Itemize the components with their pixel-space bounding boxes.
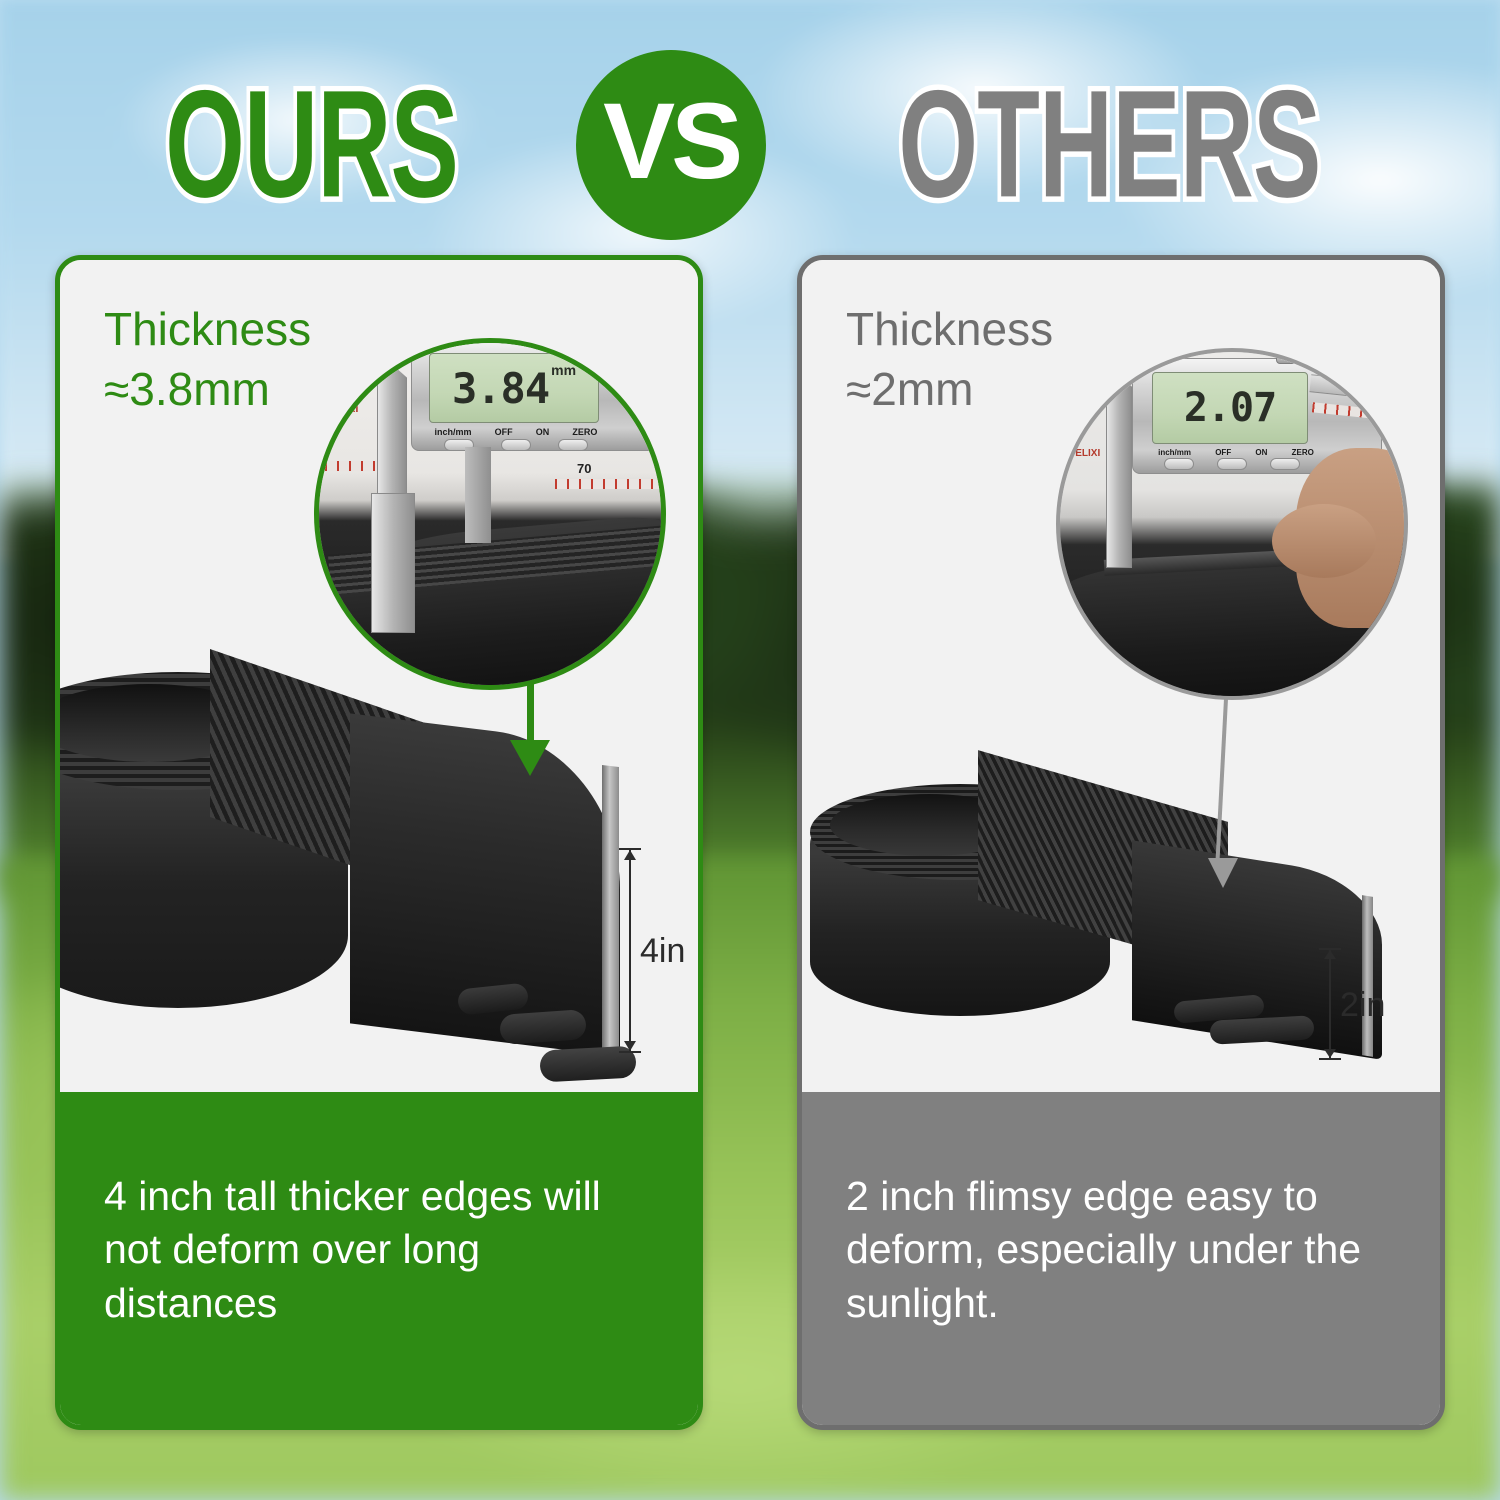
anchor-stake-2 bbox=[499, 1009, 587, 1045]
caliper-button-3-others bbox=[1270, 458, 1300, 470]
caliper-btn-label-inchmm-ours: inch/mm bbox=[435, 427, 472, 437]
caliper-btn-label-inchmm-others: inch/mm bbox=[1158, 448, 1191, 457]
thumb bbox=[1272, 504, 1376, 578]
comparison-panel-ours: Thickness ≈3.8mm 70 3.84 bbox=[55, 255, 703, 1430]
caliper-button-1-others bbox=[1164, 458, 1194, 470]
caliper-scale-70-label: 70 bbox=[577, 461, 591, 476]
header-ours-title: OURS bbox=[165, 68, 458, 221]
caliper-btn-label-on-ours: ON bbox=[536, 427, 550, 437]
caliper-lcd-others: 2.07 bbox=[1152, 372, 1308, 444]
caliper-button-2-ours bbox=[501, 439, 531, 451]
comparison-panel-others: Thickness ≈2mm 2.07 inch/mm OFF ON bbox=[797, 255, 1445, 1430]
thickness-label-others: Thickness ≈2mm bbox=[846, 300, 1053, 420]
caption-text-others: 2 inch flimsy edge easy to deform, espec… bbox=[846, 1170, 1396, 1330]
thickness-label-ours: Thickness ≈3.8mm bbox=[104, 300, 311, 420]
caption-band-others: 2 inch flimsy edge easy to deform, espec… bbox=[802, 1092, 1440, 1425]
caliper-red-scale-right bbox=[555, 479, 666, 489]
caption-text-ours: 4 inch tall thicker edges will not defor… bbox=[104, 1170, 654, 1330]
caliper-button-labels-others: inch/mm OFF ON ZERO bbox=[1146, 448, 1326, 457]
caliper-buttons-ours bbox=[431, 439, 601, 451]
caliper-thumbscrew-ours bbox=[563, 338, 585, 349]
vs-label: VS bbox=[603, 87, 739, 195]
dimension-value-others: 2in bbox=[1340, 986, 1385, 1025]
caliper-button-2-others bbox=[1217, 458, 1247, 470]
caliper-reading-others: 2.07 bbox=[1184, 385, 1276, 431]
caliper-buttons-others bbox=[1152, 458, 1312, 470]
caliper-brand-others: DELIXI bbox=[1068, 448, 1100, 459]
caliper-lcd-ours: 3.84 mm bbox=[429, 353, 599, 423]
product-photo-ours: Thickness ≈3.8mm 70 3.84 bbox=[60, 260, 698, 1092]
caliper-thumbscrew-others bbox=[1276, 350, 1296, 364]
dimension-marker-ours: 4in bbox=[600, 848, 660, 1053]
caliper-btn-label-off-others: OFF bbox=[1215, 448, 1231, 457]
caliper-zoom-circle-others: 2.07 inch/mm OFF ON ZERO DELIXI bbox=[1056, 348, 1408, 700]
caliper-btn-label-zero-ours: ZERO bbox=[572, 427, 597, 437]
callout-arrow-head-ours bbox=[510, 740, 550, 776]
caliper-button-3-ours bbox=[558, 439, 588, 451]
caliper-btn-label-on-others: ON bbox=[1255, 448, 1267, 457]
vs-badge: VS bbox=[576, 50, 766, 240]
callout-arrow-head-others bbox=[1208, 858, 1238, 888]
caliper-brand-ours: DELIXI bbox=[323, 403, 358, 415]
header-others-title: OTHERS bbox=[898, 68, 1320, 221]
header-banner: OURS VS OTHERS bbox=[0, 52, 1500, 237]
edging-strip-edge-others bbox=[1362, 895, 1373, 1057]
caliper-btn-label-off-ours: OFF bbox=[495, 427, 513, 437]
caliper-jaw-others bbox=[1106, 362, 1132, 568]
caliper-unit-ours: mm bbox=[551, 362, 576, 378]
caliper-stem-ours bbox=[465, 447, 491, 543]
caption-band-ours: 4 inch tall thicker edges will not defor… bbox=[60, 1092, 698, 1425]
dimension-value-ours: 4in bbox=[640, 932, 685, 971]
caliper-reading-ours: 3.84 bbox=[452, 364, 549, 413]
caliper-jaw-lower-ours bbox=[371, 493, 415, 633]
product-photo-others: Thickness ≈2mm 2.07 inch/mm OFF ON bbox=[802, 260, 1440, 1092]
caliper-button-labels-ours: inch/mm OFF ON ZERO bbox=[423, 427, 609, 437]
dimension-marker-others: 2in bbox=[1300, 948, 1360, 1060]
caliper-zoom-circle-ours: 70 3.84 mm inch/mm OFF ON ZERO bbox=[314, 338, 666, 690]
caliper-btn-label-zero-others: ZERO bbox=[1292, 448, 1314, 457]
